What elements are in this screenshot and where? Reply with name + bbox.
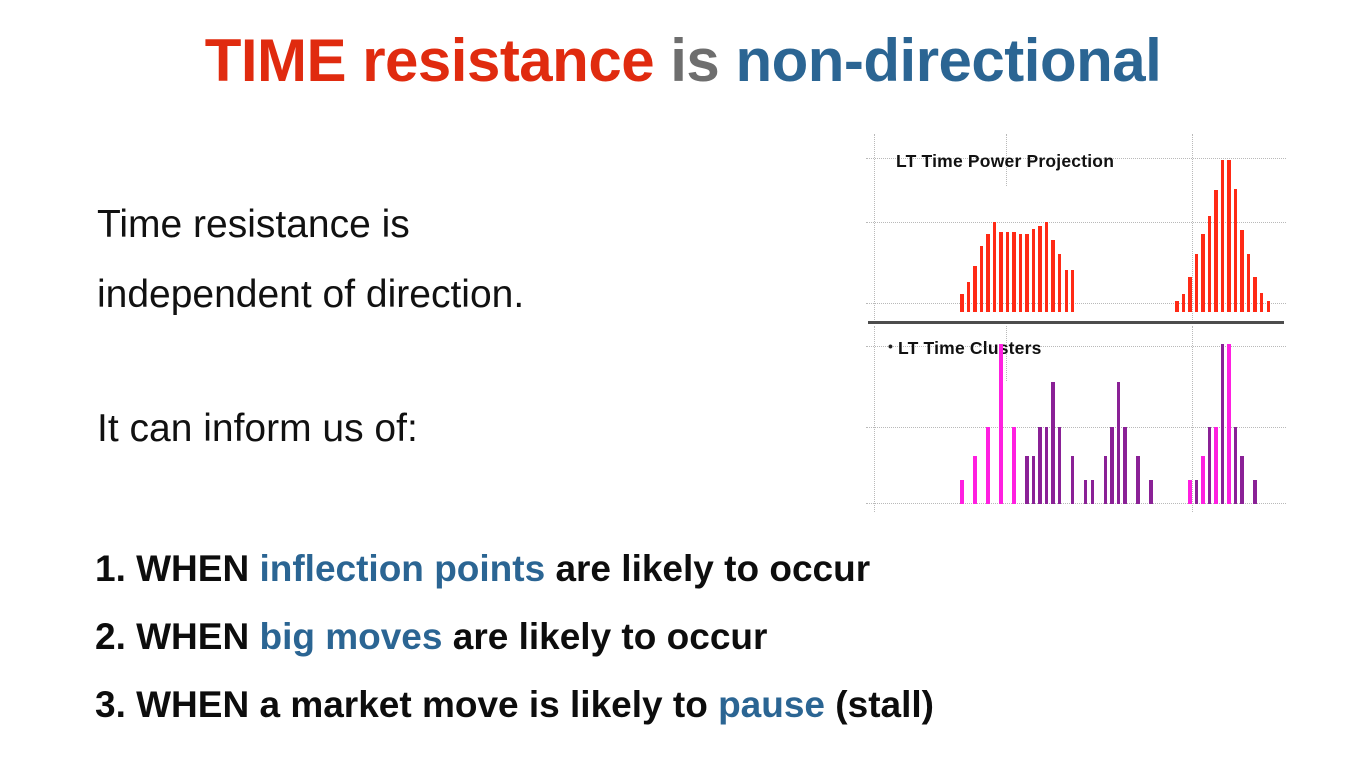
chart-panel-time-clusters: • LT Time Clusters (866, 326, 1286, 512)
chart-bar (1019, 234, 1022, 312)
list-item-text-a: WHEN a market move is likely to (126, 684, 718, 725)
title-segment-is: is (670, 27, 719, 94)
numbered-list: 1. WHEN inflection points are likely to … (95, 535, 1355, 739)
chart-bar (999, 344, 1002, 504)
chart-bar (1221, 160, 1224, 312)
page-title: TIME resistance is non-directional (0, 26, 1366, 95)
body-spacer (97, 330, 797, 394)
chart-bar (1260, 293, 1263, 312)
chart-bar (1247, 254, 1250, 312)
list-item-text-a: WHEN (126, 548, 260, 589)
list-item: 1. WHEN inflection points are likely to … (95, 535, 1355, 603)
title-segment-time-resistance: TIME resistance (205, 27, 654, 94)
list-item-highlight: inflection points (259, 548, 545, 589)
chart-bar (1208, 427, 1211, 504)
chart-bar (1214, 190, 1217, 312)
title-segment-non-directional: non-directional (735, 27, 1161, 94)
chart-bar (1201, 234, 1204, 312)
chart-bar (993, 222, 996, 312)
plot-area-time-clusters (874, 344, 1278, 504)
chart-bar (1201, 456, 1204, 504)
chart-bar (1051, 382, 1054, 504)
list-item-highlight: pause (718, 684, 825, 725)
chart-bar (960, 480, 963, 504)
chart-bar (960, 294, 963, 312)
list-item-number: 1. (95, 548, 126, 589)
list-item-highlight: big moves (259, 616, 442, 657)
body-paragraph-1: Time resistance is independent of direct… (97, 190, 797, 330)
list-item-text-b: are likely to occur (442, 616, 767, 657)
chart-bar (1149, 480, 1152, 504)
chart-bar (1071, 270, 1074, 312)
chart-bar (1006, 232, 1009, 312)
chart-bar (1221, 344, 1224, 504)
chart-bar (1253, 277, 1256, 312)
list-item-text-b: (stall) (825, 684, 934, 725)
body-paragraph-2: It can inform us of: (97, 394, 797, 464)
chart-bar (1182, 294, 1185, 312)
chart-bar (1136, 456, 1139, 504)
chart-bar (980, 246, 983, 312)
list-item-text-b: are likely to occur (545, 548, 870, 589)
chart-bar (1065, 270, 1068, 312)
chart-bar (1123, 427, 1126, 504)
chart-bar (973, 266, 976, 312)
chart-bar (1240, 456, 1243, 504)
list-item: 2. WHEN big moves are likely to occur (95, 603, 1355, 671)
chart-bar (1214, 427, 1217, 504)
chart-bar (1234, 189, 1237, 312)
chart-bar (1045, 427, 1048, 504)
chart-bar (973, 456, 976, 504)
chart-bar (1058, 254, 1061, 312)
presentation-slide: TIME resistance is non-directional Time … (0, 0, 1366, 768)
chart-panel-power-projection: LT Time Power Projection (866, 134, 1286, 320)
chart-bar (1188, 480, 1191, 504)
chart-bar (1227, 344, 1230, 504)
chart-bar (1091, 480, 1094, 504)
chart-bar (1025, 456, 1028, 504)
chart-bar (1032, 229, 1035, 312)
chart-bar (1188, 277, 1191, 312)
chart-bar (1240, 230, 1243, 312)
chart-bar (1071, 456, 1074, 504)
chart-bar (967, 282, 970, 312)
list-item-number: 3. (95, 684, 126, 725)
chart-bar (1038, 226, 1041, 312)
body-copy: Time resistance is independent of direct… (97, 190, 797, 464)
chart-figure: LT Time Power Projection • LT Time Clust… (866, 134, 1286, 512)
chart-bar (1012, 232, 1015, 312)
chart-bar (1012, 427, 1015, 504)
chart-bar (1227, 160, 1230, 312)
chart-bar (1208, 216, 1211, 312)
chart-bar (1104, 456, 1107, 504)
chart-bar (1032, 456, 1035, 504)
list-item-number: 2. (95, 616, 126, 657)
plot-area-power-projection (874, 152, 1278, 312)
panel-divider (868, 321, 1284, 324)
chart-bar (1110, 427, 1113, 504)
chart-bar (1195, 254, 1198, 312)
chart-bar (999, 232, 1002, 312)
chart-bar (1084, 480, 1087, 504)
chart-bar (986, 427, 989, 504)
chart-bar (1045, 222, 1048, 312)
chart-bar (1025, 234, 1028, 312)
chart-bar (1117, 382, 1120, 504)
chart-bar (1058, 427, 1061, 504)
list-item-text-a: WHEN (126, 616, 260, 657)
chart-bar (1234, 427, 1237, 504)
chart-bar (1038, 427, 1041, 504)
chart-bar (1051, 240, 1054, 312)
list-item: 3. WHEN a market move is likely to pause… (95, 671, 1355, 739)
chart-bar (986, 234, 989, 312)
chart-bar (1175, 301, 1178, 312)
chart-bar (1267, 301, 1270, 312)
chart-bar (1195, 480, 1198, 504)
chart-bar (1253, 480, 1256, 504)
